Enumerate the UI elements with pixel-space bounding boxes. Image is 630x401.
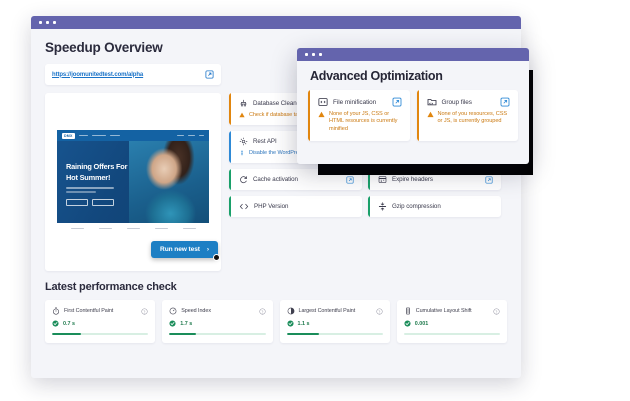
option-card-gzip-compression[interactable]: Gzip compression: [368, 196, 501, 217]
performance-metrics-row: First Contentful Paint 0.7 s: [45, 300, 507, 343]
main-window-titlebar: [31, 16, 521, 29]
broom-icon: [239, 99, 248, 108]
help-circle-icon[interactable]: [493, 308, 500, 315]
modal-cards-row: File minification None of your JS, CSS o…: [297, 83, 529, 141]
metric-value-row: 0.001: [404, 320, 500, 327]
screenshot-stage: Speedup Overview https://joomunitedtest.…: [0, 0, 630, 401]
preview-footer-mark: [155, 228, 168, 230]
metric-header: Cumulative Layout Shift: [404, 307, 500, 315]
modal-card-note-text: None of your JS, CSS or HTML resources i…: [329, 111, 402, 133]
warning-triangle-icon: [318, 111, 325, 118]
window-dot-red[interactable]: [305, 53, 308, 56]
preview-nav-item: [92, 135, 106, 137]
metric-progress-track: [52, 333, 148, 335]
preview-column: DMX Raining Offers: [45, 93, 221, 271]
calendar-icon: [378, 175, 387, 184]
metric-header: Largest Contentful Paint: [287, 307, 383, 315]
metric-name: Speed Index: [181, 308, 211, 314]
run-new-test-label: Run new test: [160, 246, 200, 253]
preview-site-logo: DMX: [62, 133, 75, 139]
metric-progress-track: [404, 333, 500, 335]
preview-site-nav: DMX: [57, 130, 209, 141]
help-circle-icon[interactable]: [259, 308, 266, 315]
site-url-bar[interactable]: https://joomunitedtest.com/alpha: [45, 64, 221, 85]
preview-nav-item: [177, 135, 184, 137]
option-title: Rest API: [253, 138, 277, 145]
modal-card-note-text: None of you resources, CSS or JS, is cur…: [438, 111, 511, 126]
window-dot-green[interactable]: [53, 21, 56, 24]
modal-titlebar: [297, 48, 529, 61]
speedometer-icon: [169, 307, 177, 315]
preview-nav-item: [188, 135, 195, 137]
preview-hero-photo: [129, 141, 209, 234]
metric-card-largest-contentful-paint[interactable]: Largest Contentful Paint 1.1 s: [280, 300, 390, 343]
preview-hero-subline: [66, 191, 96, 193]
option-title: PHP Version: [254, 203, 288, 210]
warning-triangle-icon: [427, 111, 434, 118]
metric-name: Cumulative Layout Shift: [416, 308, 472, 314]
preview-hero-subline: [66, 187, 114, 189]
modal-card-header: File minification: [318, 97, 402, 107]
metric-name: Largest Contentful Paint: [299, 308, 356, 314]
metric-name: First Contentful Paint: [64, 308, 113, 314]
check-circle-icon: [404, 320, 411, 327]
modal-card-note: None of your JS, CSS or HTML resources i…: [318, 111, 402, 133]
site-url-text[interactable]: https://joomunitedtest.com/alpha: [52, 72, 143, 78]
modal-card-note: None of you resources, CSS or JS, is cur…: [427, 111, 511, 126]
external-link-icon[interactable]: [205, 70, 214, 79]
metric-header: First Contentful Paint: [52, 307, 148, 315]
preview-cart-icon: [199, 135, 204, 137]
help-circle-icon[interactable]: [376, 308, 383, 315]
preview-footer-mark: [99, 228, 112, 230]
option-card-php-version[interactable]: PHP Version: [229, 196, 362, 217]
preview-hero-buttons: [66, 199, 114, 206]
window-dot-yellow[interactable]: [46, 21, 49, 24]
modal-card-title: Group files: [442, 99, 472, 106]
external-link-icon[interactable]: [392, 97, 402, 107]
warning-triangle-icon: [239, 112, 245, 118]
preview-marker-badge: [213, 254, 220, 261]
metric-value: 0.001: [415, 321, 429, 327]
stopwatch-icon: [52, 307, 60, 315]
option-title: Cache activation: [253, 176, 298, 183]
check-circle-icon: [52, 320, 59, 327]
metric-progress-fill: [169, 333, 196, 335]
option-header: Gzip compression: [378, 202, 493, 211]
advanced-optimization-modal: Advanced Optimization File minification: [297, 48, 529, 164]
contrast-circle-icon: [287, 307, 295, 315]
preview-nav-item: [79, 135, 88, 137]
run-new-test-button[interactable]: Run new test ›: [151, 241, 218, 258]
preview-footer-mark: [127, 228, 140, 230]
external-link-icon[interactable]: [500, 97, 510, 107]
modal-title: Advanced Optimization: [297, 61, 529, 83]
external-link-icon[interactable]: [485, 176, 493, 184]
chevron-right-icon: ›: [207, 246, 209, 253]
check-circle-icon: [169, 320, 176, 327]
site-preview-panel[interactable]: DMX Raining Offers: [45, 93, 221, 271]
metric-card-first-contentful-paint[interactable]: First Contentful Paint 0.7 s: [45, 300, 155, 343]
option-header: Cache activation: [239, 175, 354, 184]
metric-header: Speed Index: [169, 307, 265, 315]
metric-card-cumulative-layout-shift[interactable]: Cumulative Layout Shift 0.001: [397, 300, 507, 343]
preview-footer-mark: [183, 228, 196, 230]
metric-value-row: 0.7 s: [52, 320, 148, 327]
code-brackets-icon: [239, 202, 249, 211]
performance-section-title: Latest performance check: [45, 281, 507, 293]
preview-nav-item: [110, 135, 120, 137]
option-title: Expire headers: [392, 176, 433, 183]
metric-value: 1.1 s: [298, 321, 310, 327]
check-circle-icon: [287, 320, 294, 327]
metric-progress-fill: [52, 333, 81, 335]
layout-shift-icon: [404, 307, 412, 315]
window-dot-red[interactable]: [39, 21, 42, 24]
metric-value-row: 1.1 s: [287, 320, 383, 327]
preview-footer-mark: [71, 228, 84, 230]
option-row-php-gzip: PHP Version: [229, 196, 501, 217]
preview-hero-button: [66, 199, 88, 206]
preview-hero-title: Raining Offers For Hot Summer!: [66, 161, 136, 183]
modal-card-file-minification[interactable]: File minification None of your JS, CSS o…: [308, 90, 410, 141]
window-dot-yellow[interactable]: [312, 53, 315, 56]
folder-code-icon: [427, 97, 437, 107]
option-title: Database Cleaner: [253, 100, 302, 107]
modal-card-group-files[interactable]: Group files None of you resources, CSS o…: [417, 90, 519, 141]
modal-card-header: Group files: [427, 97, 511, 107]
code-square-icon: [318, 97, 328, 107]
option-header: PHP Version: [239, 202, 354, 211]
site-screenshot: DMX Raining Offers: [57, 130, 209, 234]
help-circle-icon[interactable]: [141, 308, 148, 315]
compress-icon: [378, 202, 387, 211]
metric-value: 1.7 s: [180, 321, 192, 327]
info-icon: [239, 150, 245, 156]
window-dot-green[interactable]: [319, 53, 322, 56]
preview-hero-button: [92, 199, 114, 206]
refresh-icon: [239, 175, 248, 184]
metric-progress-track: [169, 333, 265, 335]
external-link-icon[interactable]: [346, 176, 354, 184]
modal-card-title: File minification: [333, 99, 376, 106]
metric-card-speed-index[interactable]: Speed Index 1.7 s: [162, 300, 272, 343]
option-title: Gzip compression: [392, 203, 441, 210]
option-header: Expire headers: [378, 175, 493, 184]
metric-value-row: 1.7 s: [169, 320, 265, 327]
preview-site-footer: [57, 223, 209, 234]
metric-progress-track: [287, 333, 383, 335]
preview-hero: Raining Offers For Hot Summer!: [57, 141, 209, 234]
metric-value: 0.7 s: [63, 321, 75, 327]
api-node-icon: [239, 137, 248, 146]
metric-progress-fill: [287, 333, 320, 335]
